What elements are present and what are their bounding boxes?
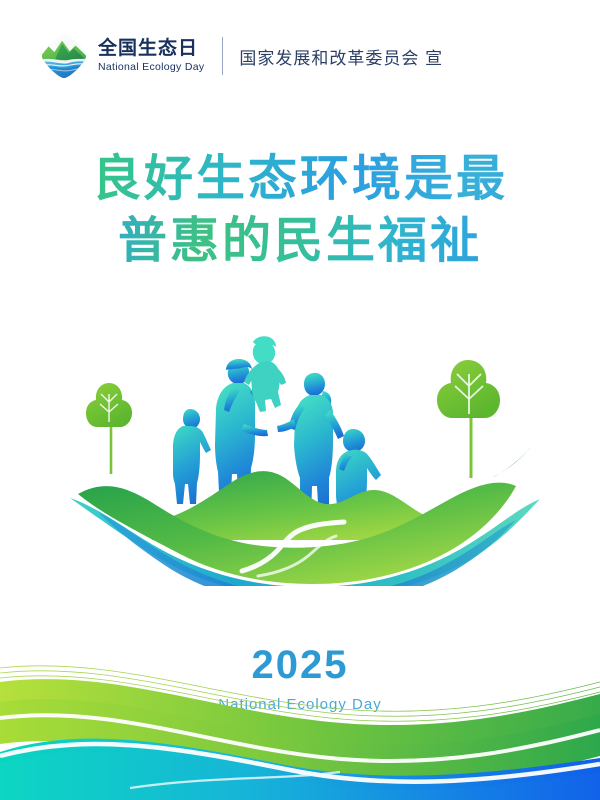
tree-left-icon (86, 383, 132, 474)
poster-canvas: 全国生态日 National Ecology Day 国家发展和改革委员会 宣 … (0, 0, 600, 800)
logo-text: 全国生态日 National Ecology Day (98, 38, 204, 74)
title-line-1: 良好生态环境是最 (0, 148, 600, 210)
page-title: 良好生态环境是最 普惠的民生福祉 (0, 148, 600, 272)
tree-right-icon (437, 360, 532, 478)
logo-title-en: National Ecology Day (98, 61, 204, 75)
header: 全国生态日 National Ecology Day 国家发展和改革委员会 宣 (40, 30, 443, 82)
girl-child-silhouette (173, 409, 211, 504)
national-ecology-day-emblem-icon (40, 32, 88, 80)
organization-label: 国家发展和改革委员会 宣 (239, 44, 443, 69)
logo-title-cn: 全国生态日 (98, 38, 204, 60)
bottom-wave-decoration (0, 660, 600, 800)
header-divider (222, 37, 223, 75)
title-line-2: 普惠的民生福祉 (0, 210, 600, 272)
family-on-green-leaf-hill-illustration (40, 326, 560, 586)
